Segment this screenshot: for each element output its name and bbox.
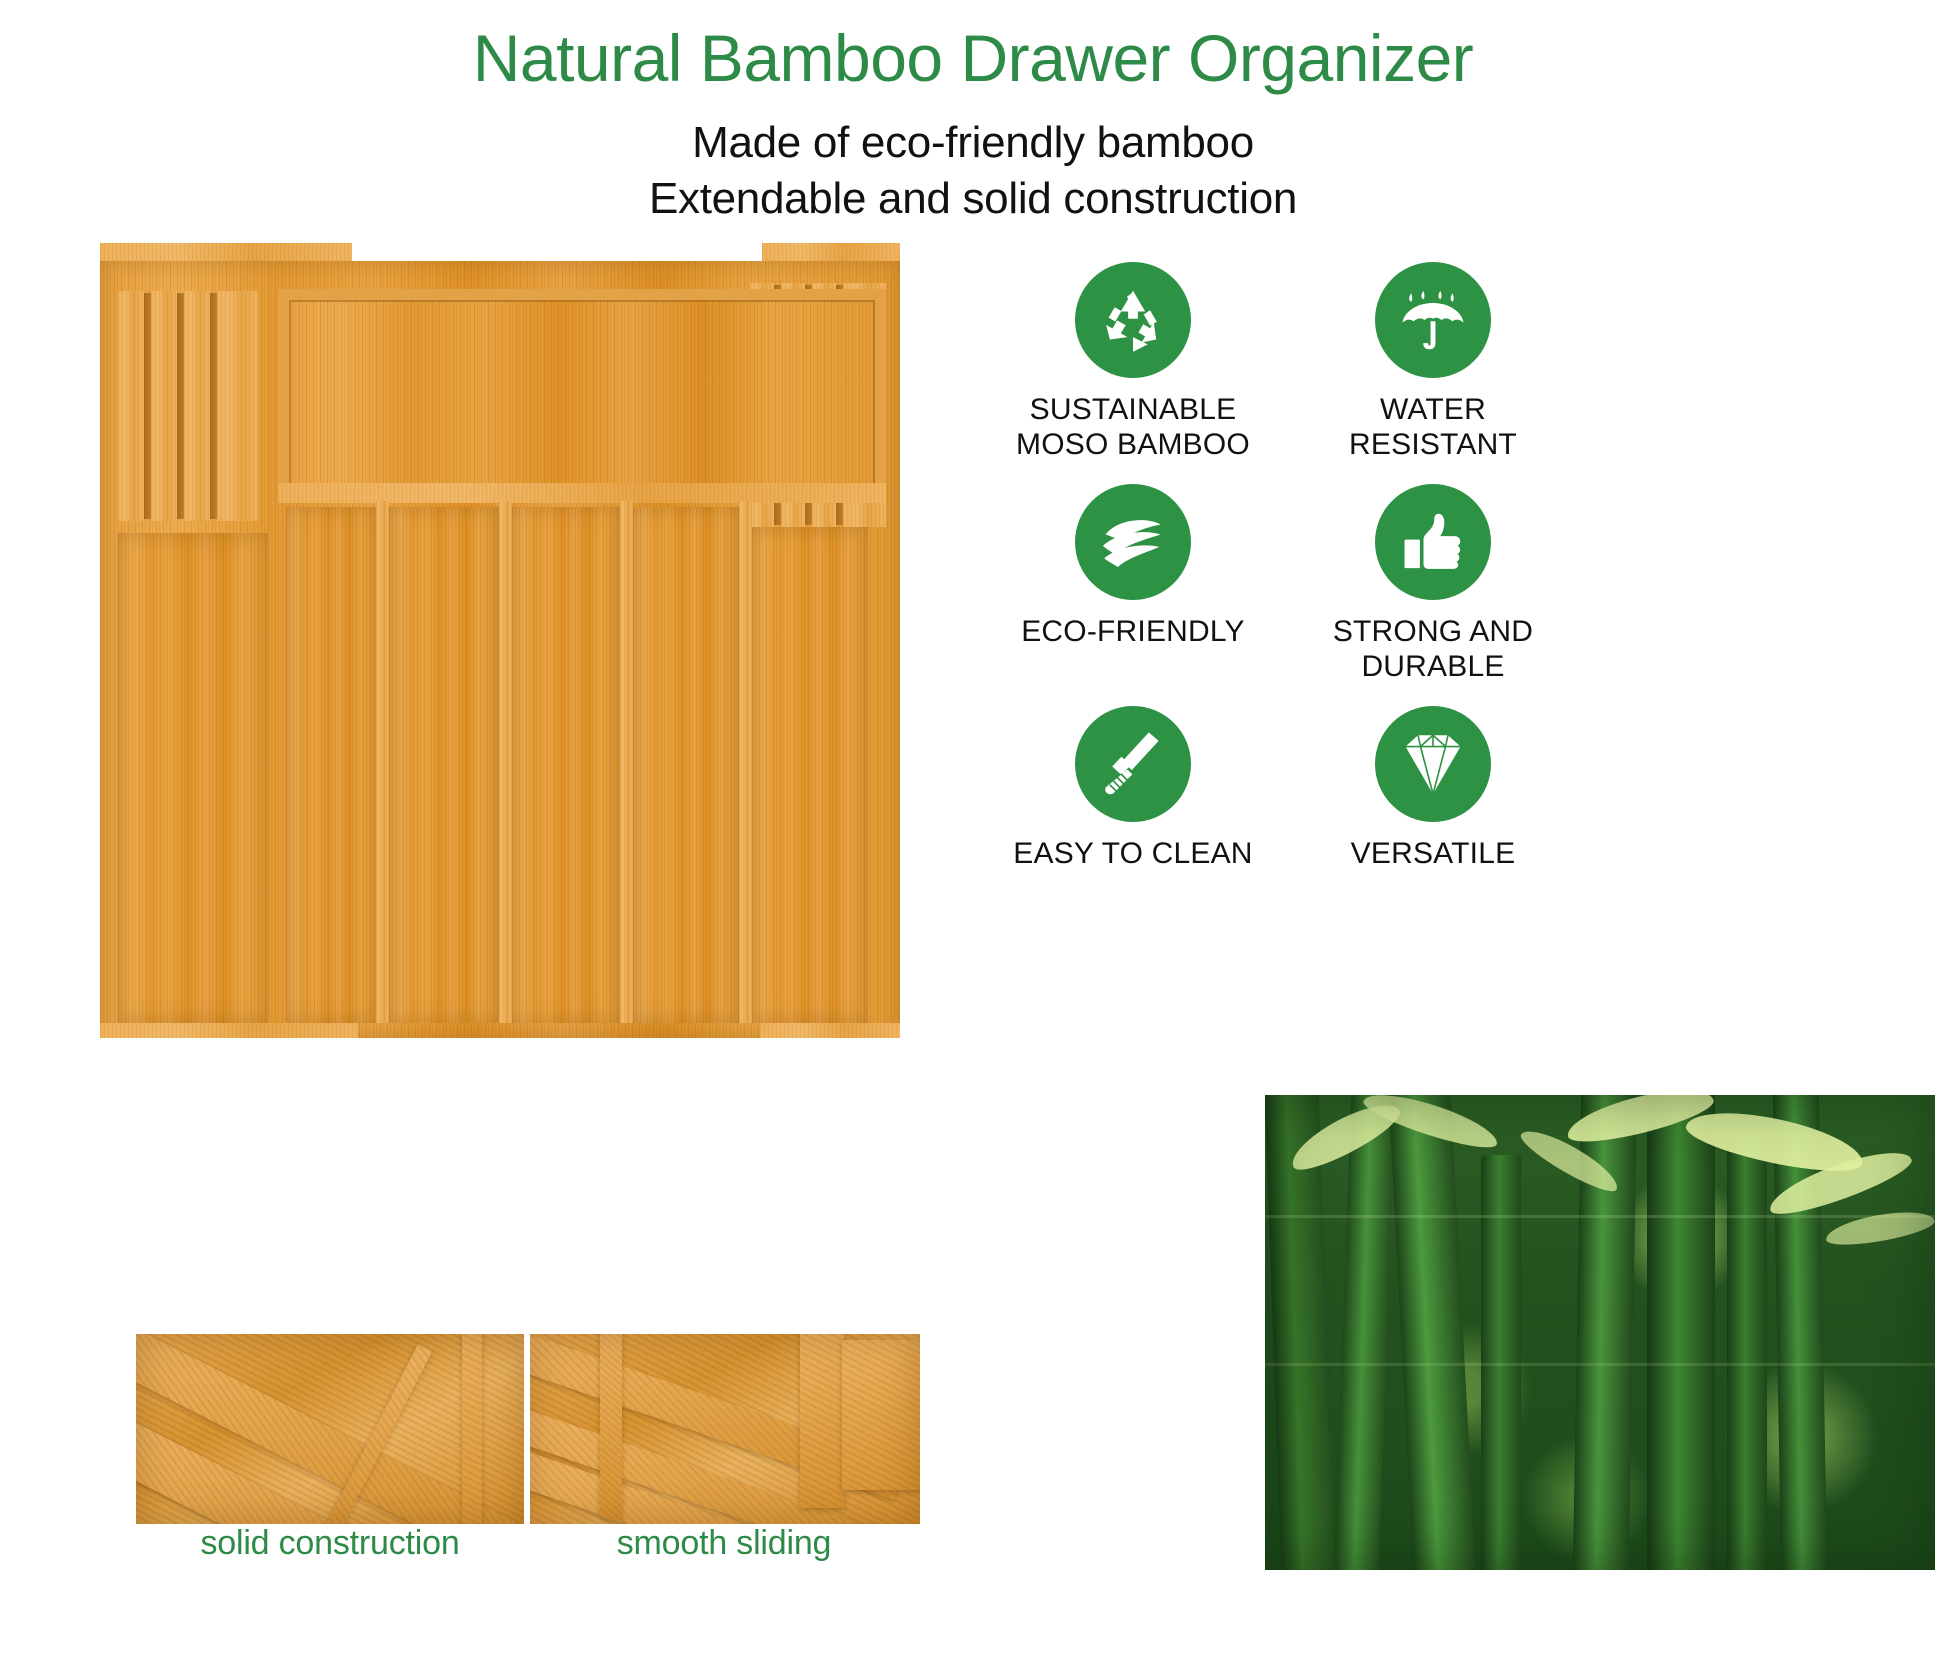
product-hero-image (100, 243, 900, 1038)
thumbs-up-icon (1375, 484, 1491, 600)
page-title: Natural Bamboo Drawer Organizer (0, 0, 1946, 94)
feature-label: WATER RESISTANT (1295, 392, 1571, 463)
expandable-top-tray (278, 289, 886, 497)
diamond-icon (1375, 706, 1491, 822)
recycle-icon (1075, 262, 1191, 378)
knife-slot-bank-left (118, 291, 258, 521)
feature-item-versatile: VERSATILE (1295, 706, 1571, 871)
compartment-5 (752, 527, 868, 1023)
subtitle-line-1: Made of eco-friendly bamboo (0, 94, 1946, 170)
feature-item-water-resistant: WATER RESISTANT (1295, 262, 1571, 463)
feature-label: ECO-FRIENDLY (995, 614, 1271, 649)
tray-notch-bottom-right (760, 1023, 900, 1038)
thumbnail-caption-smooth-sliding: smooth sliding (490, 1524, 958, 1563)
tray-body (100, 261, 900, 1038)
feature-label: SUSTAINABLE MOSO BAMBOO (995, 392, 1271, 463)
tray-notch-bottom-left (100, 1023, 358, 1038)
feature-item-easy-to-clean: EASY TO CLEAN (995, 706, 1271, 871)
divider-1 (376, 501, 389, 1023)
bamboo-forest-photo (1265, 1095, 1935, 1570)
feature-label: EASY TO CLEAN (995, 836, 1271, 871)
thumbnail-solid-construction (136, 1334, 524, 1524)
thumbnail-smooth-sliding (530, 1334, 920, 1524)
umbrella-icon (1375, 262, 1491, 378)
compartment-1 (286, 507, 376, 1023)
header: Natural Bamboo Drawer Organizer Made of … (0, 0, 1946, 230)
feature-item-eco-friendly: ECO-FRIENDLY (995, 484, 1271, 649)
feature-label: VERSATILE (1295, 836, 1571, 871)
subtitle-line-2: Extendable and solid construction (0, 170, 1946, 226)
compartment-large-left (118, 533, 268, 1023)
feature-label: STRONG AND DURABLE (1295, 614, 1571, 685)
compartment-2 (389, 507, 499, 1023)
compartment-4 (633, 507, 739, 1023)
divider-4 (739, 501, 752, 1023)
divider-2 (499, 501, 512, 1023)
feature-item-strong-durable: STRONG AND DURABLE (1295, 484, 1571, 685)
feature-item-sustainable: SUSTAINABLE MOSO BAMBOO (995, 262, 1271, 463)
compartment-3 (512, 507, 620, 1023)
leaf-icon (1075, 484, 1191, 600)
feature-grid: SUSTAINABLE MOSO BAMBOO WATER RESISTANT (995, 262, 1595, 862)
divider-3 (620, 501, 633, 1023)
broom-icon (1075, 706, 1191, 822)
tray-rail (278, 483, 886, 503)
